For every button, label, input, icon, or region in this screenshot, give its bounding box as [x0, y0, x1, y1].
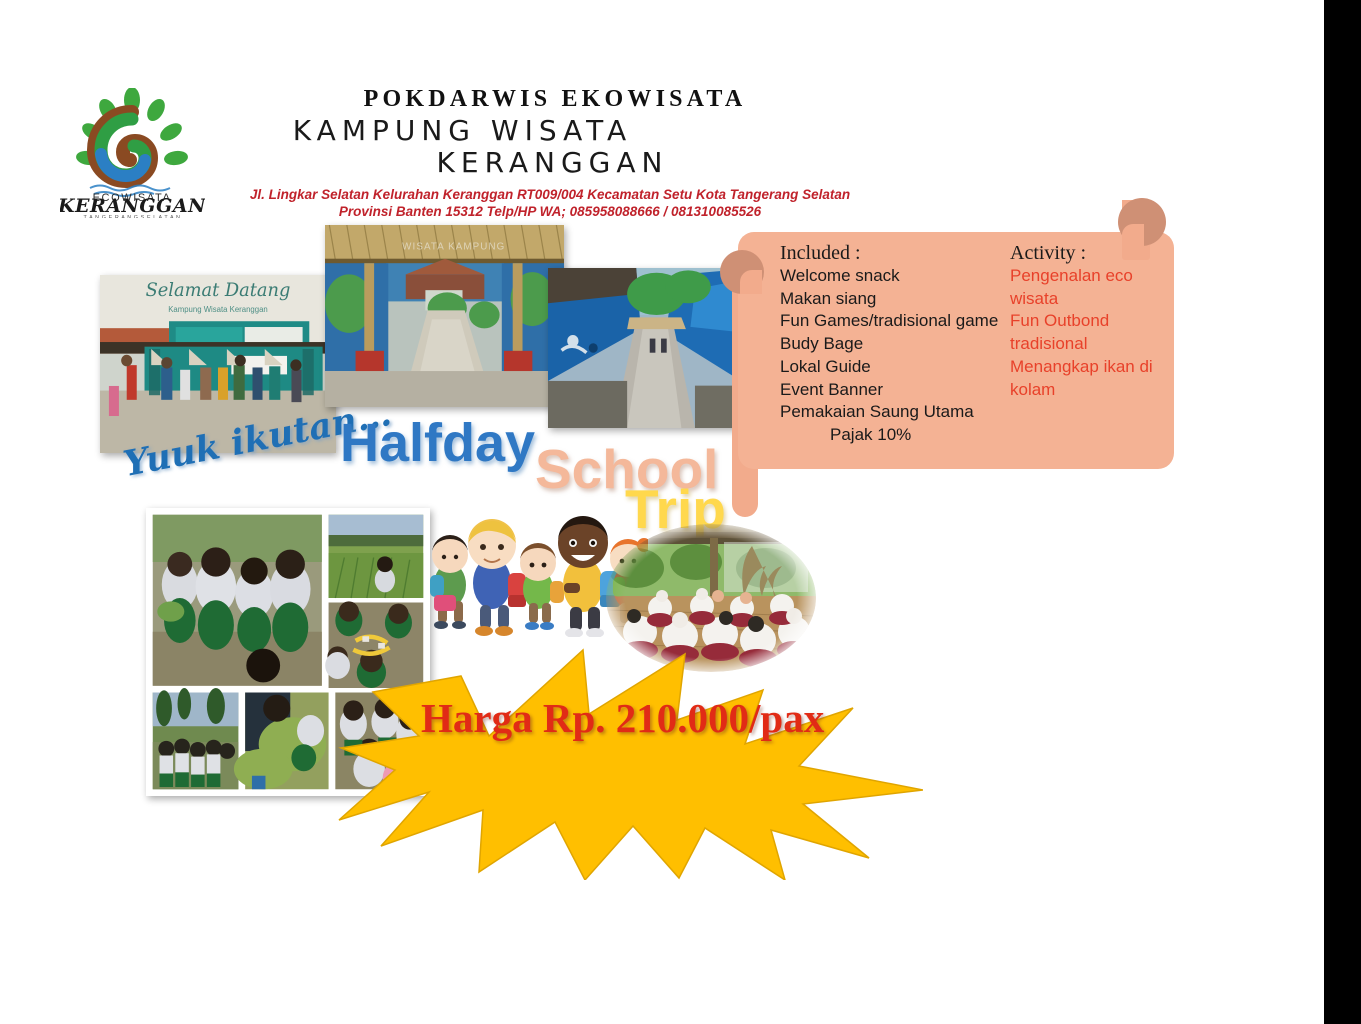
- right-black-bar: [1324, 0, 1361, 1024]
- price-starburst-shape: [333, 640, 923, 880]
- included-item: Event Banner: [780, 379, 998, 402]
- included-item: Makan siang: [780, 288, 998, 311]
- photo-bamboo-gate-image: WISATA KAMPUNG: [325, 225, 564, 407]
- included-item: Budy Bage: [780, 333, 998, 356]
- poster-slide: ECOWISATA KERANGGAN T A N G E R A N G S …: [0, 0, 1324, 1024]
- title-halfday: Halfday: [340, 412, 535, 474]
- activity-list: Pengenalan eco wisata Fun Outbond tradis…: [1010, 265, 1174, 401]
- activity-column: Activity : Pengenalan eco wisata Fun Out…: [1010, 242, 1174, 401]
- included-item: Lokal Guide: [780, 356, 998, 379]
- price-text: Harga Rp. 210.000/pax: [421, 694, 824, 742]
- address-block: Jl. Lingkar Selatan Kelurahan Keranggan …: [0, 186, 1100, 220]
- activity-item: Pengenalan eco wisata: [1010, 265, 1174, 310]
- photo-banner-caption: Selamat Datang: [146, 280, 291, 301]
- org-title-line3: KERANGGAN: [0, 146, 1105, 179]
- address-line-2: Provinsi Banten 15312 Telp/HP WA; 085958…: [0, 203, 1100, 220]
- activity-item: Menangkap ikan di kolam: [1010, 356, 1174, 401]
- included-item: Pemakaian Saung Utama: [780, 401, 998, 424]
- included-item-tax: Pajak 10%: [780, 424, 998, 447]
- activity-item: Fun Outbond tradisional: [1010, 310, 1174, 355]
- included-item: Fun Games/tradisional game: [780, 310, 998, 333]
- price-starburst: [333, 640, 923, 880]
- included-column: Included : Welcome snack Makan siang Fun…: [780, 242, 998, 447]
- org-title-line1: POKDARWIS EKOWISATA: [0, 86, 1110, 113]
- photo-banner-subcaption: Kampung Wisata Keranggan: [168, 305, 268, 314]
- address-line-1: Jl. Lingkar Selatan Kelurahan Keranggan …: [0, 186, 1100, 203]
- info-scroll-box: Included : Welcome snack Makan siang Fun…: [714, 232, 1174, 469]
- included-item: Welcome snack: [780, 265, 998, 288]
- included-list: Welcome snack Makan siang Fun Games/trad…: [780, 265, 998, 447]
- scroll-right-curl-inner: [1122, 224, 1144, 246]
- included-title: Included :: [780, 242, 998, 265]
- photo-bamboo-gate: WISATA KAMPUNG: [325, 225, 564, 407]
- org-title-line2: KAMPUNG WISATA: [0, 114, 925, 147]
- scroll-body: Included : Welcome snack Makan siang Fun…: [738, 232, 1174, 469]
- photo-gate-caption: WISATA KAMPUNG: [402, 242, 505, 253]
- scroll-left-curl-inner: [740, 270, 762, 294]
